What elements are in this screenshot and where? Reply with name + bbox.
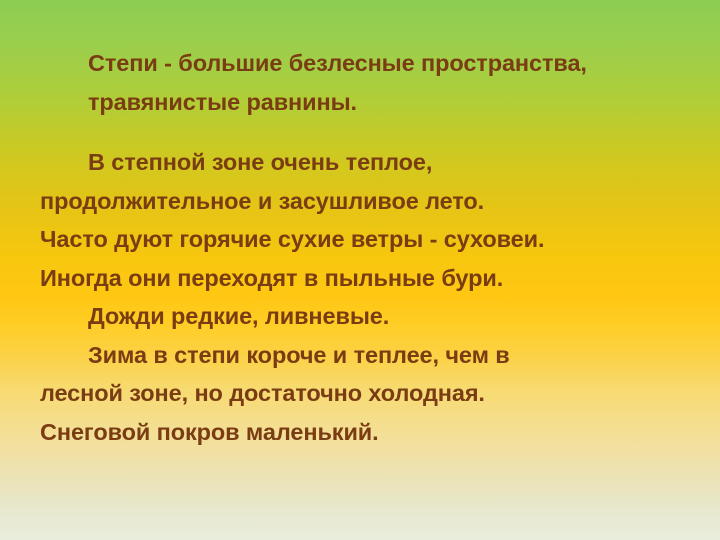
slide-canvas: Степи - большие безлесные пространства,т…: [0, 0, 720, 540]
paragraph-definition-line-1: Степи - большие безлесные пространства,: [40, 44, 686, 83]
paragraph-climate-line-1: В степной зоне очень теплое,: [40, 143, 686, 182]
paragraph-climate-line-6: Зима в степи короче и теплее, чем в: [40, 336, 686, 375]
paragraph-climate-line-4: Иногда они переходят в пыльные бури.: [40, 259, 686, 298]
paragraph-climate-line-2: продолжительное и засушливое лето.: [40, 182, 686, 221]
paragraph-climate-line-7: лесной зоне, но достаточно холодная.: [40, 374, 686, 413]
paragraph-climate-line-8: Снеговой покров маленький.: [40, 413, 686, 452]
paragraph-definition: Степи - большие безлесные пространства,т…: [40, 0, 686, 121]
paragraph-climate: В степной зоне очень теплое,продолжитель…: [40, 121, 686, 451]
paragraph-climate-line-3: Часто дуют горячие сухие ветры - суховеи…: [40, 220, 686, 259]
paragraph-climate-line-5: Дожди редкие, ливневые.: [40, 297, 686, 336]
paragraph-definition-line-2: травянистые равнины.: [40, 83, 686, 122]
slide-text-body: Степи - большие безлесные пространства,т…: [0, 0, 720, 451]
